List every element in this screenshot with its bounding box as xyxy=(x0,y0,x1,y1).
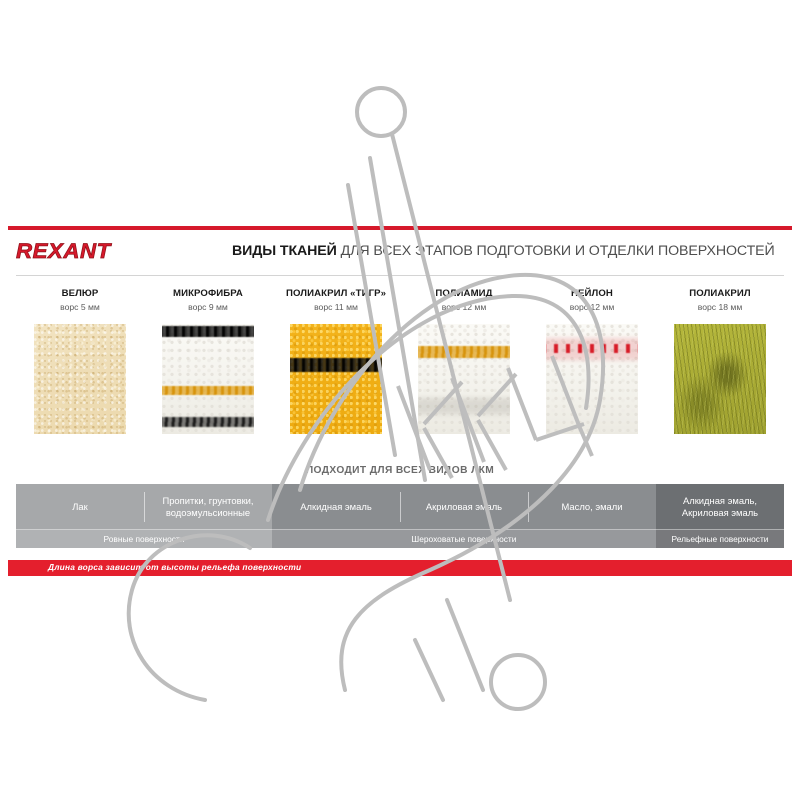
fabric-swatch-polyamide xyxy=(418,324,510,434)
fabric-swatch-tiger xyxy=(290,324,382,434)
page-title-bold: ВИДЫ ТКАНЕЙ xyxy=(232,243,337,259)
lkm-caption: ПОДХОДИТ ДЛЯ ВСЕХ ВИДОВ ЛКМ xyxy=(0,465,800,476)
table-row-divider xyxy=(16,529,784,530)
fabric-name: ПОЛИАМИД xyxy=(400,288,528,300)
footer-note-banner: Длина ворса зависит от высоты рельефа по… xyxy=(8,560,792,576)
watermark-circle-top xyxy=(357,88,405,136)
fabric-name: ПОЛИАКРИЛ «ТИГР» xyxy=(272,288,400,300)
rexant-logo: REXANT xyxy=(16,240,111,264)
table-cell-paint: Лак xyxy=(16,484,144,530)
fabric-pile: ворс 18 мм xyxy=(656,301,784,313)
fabric-swatch-nylon xyxy=(546,324,638,434)
fabric-column-polyamide: ПОЛИАМИД ворс 12 мм xyxy=(400,288,528,313)
fabric-pile: ворс 11 мм xyxy=(272,301,400,313)
infographic-sheet: REXANT ВИДЫ ТКАНЕЙ ДЛЯ ВСЕХ ЭТАПОВ ПОДГО… xyxy=(0,210,800,580)
fabric-name: ВЕЛЮР xyxy=(16,288,144,300)
fabric-column-polyacryl: ПОЛИАКРИЛ ворс 18 мм xyxy=(656,288,784,313)
fabric-pile: ворс 9 мм xyxy=(144,301,272,313)
header-divider xyxy=(16,275,784,276)
fabric-columns: ВЕЛЮР ворс 5 мм МИКРОФИБРА ворс 9 мм ПОЛ… xyxy=(0,288,800,458)
fabric-swatch-velour xyxy=(34,324,126,434)
cell-divider xyxy=(528,492,529,522)
table-cell-paint: Масло, эмали xyxy=(528,484,656,530)
fabric-swatch-microfiber xyxy=(162,324,254,434)
fabric-name: НЕЙЛОН xyxy=(528,288,656,300)
page-title: ВИДЫ ТКАНЕЙ ДЛЯ ВСЕХ ЭТАПОВ ПОДГОТОВКИ И… xyxy=(232,242,788,260)
fabric-pile: ворс 12 мм xyxy=(528,301,656,313)
table-cell-paint: Пропитки, грунтовки,водоэмульсионные xyxy=(144,484,272,530)
fabric-column-nylon: НЕЙЛОН ворс 12 мм xyxy=(528,288,656,313)
top-red-rule xyxy=(8,226,792,230)
watermark-circle-bottom xyxy=(491,655,545,709)
compatibility-table: Лак Пропитки, грунтовки,водоэмульсионные… xyxy=(16,484,784,548)
table-cell-surface: Шероховатые поверхности xyxy=(272,530,656,548)
footer-note-text: Длина ворса зависит от высоты рельефа по… xyxy=(48,562,301,572)
table-cell-surface: Ровные поверхности xyxy=(16,530,272,548)
fabric-column-microfiber: МИКРОФИБРА ворс 9 мм xyxy=(144,288,272,313)
table-cell-paint: Алкидная эмаль xyxy=(272,484,400,530)
fabric-column-tiger: ПОЛИАКРИЛ «ТИГР» ворс 11 мм xyxy=(272,288,400,313)
table-cell-paint: Алкидная эмаль,Акриловая эмаль xyxy=(656,484,784,530)
cell-divider xyxy=(400,492,401,522)
fabric-swatch-polyacryl xyxy=(674,324,766,434)
fabric-column-velour: ВЕЛЮР ворс 5 мм xyxy=(16,288,144,313)
fabric-pile: ворс 5 мм xyxy=(16,301,144,313)
table-cell-paint: Акриловая эмаль xyxy=(400,484,528,530)
cell-divider xyxy=(144,492,145,522)
fabric-name: МИКРОФИБРА xyxy=(144,288,272,300)
page-title-light: ДЛЯ ВСЕХ ЭТАПОВ ПОДГОТОВКИ И ОТДЕЛКИ ПОВ… xyxy=(337,243,775,259)
fabric-name: ПОЛИАКРИЛ xyxy=(656,288,784,300)
fabric-pile: ворс 12 мм xyxy=(400,301,528,313)
sheet-header: REXANT ВИДЫ ТКАНЕЙ ДЛЯ ВСЕХ ЭТАПОВ ПОДГО… xyxy=(0,236,800,272)
table-cell-surface: Рельефные поверхности xyxy=(656,530,784,548)
